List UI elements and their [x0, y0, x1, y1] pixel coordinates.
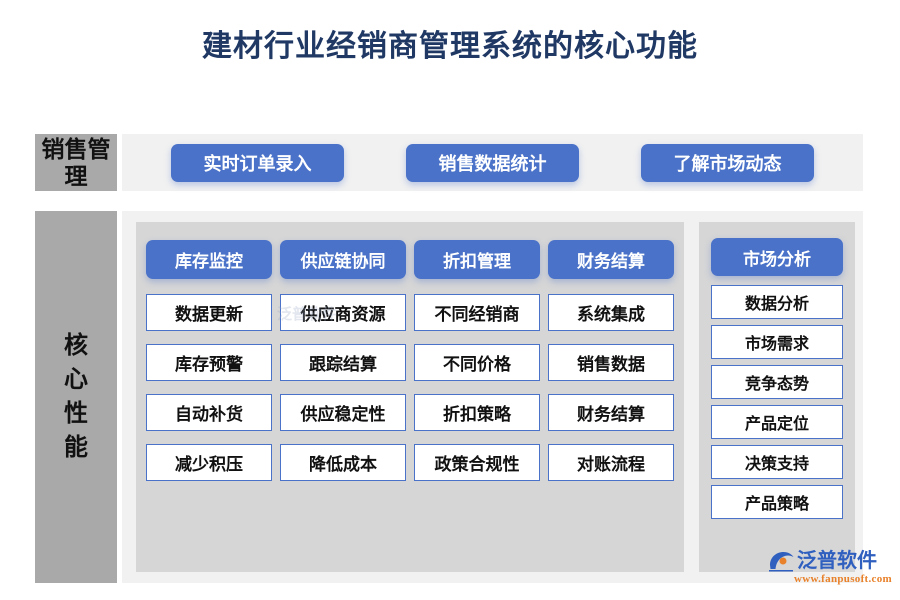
core-grid-cell-3-3[interactable]: 对账流程	[548, 444, 674, 481]
sidebar-item-sales-management[interactable]: 销售管理	[35, 134, 117, 191]
core-grid-cell-label: 系统集成	[577, 300, 645, 325]
core-grid-cell-0-1[interactable]: 供应商资源	[280, 294, 406, 331]
core-grid-cell-1-1[interactable]: 跟踪结算	[280, 344, 406, 381]
market-analysis-item-label: 产品定位	[745, 410, 809, 434]
core-grid-cell-1-3[interactable]: 销售数据	[548, 344, 674, 381]
core-grid-cell-label: 减少积压	[175, 450, 243, 475]
core-grid-cell-3-2[interactable]: 政策合规性	[414, 444, 540, 481]
core-grid-row: 库存预警跟踪结算不同价格销售数据	[146, 344, 674, 381]
core-grid-header-label: 折扣管理	[443, 247, 511, 272]
core-grid-cell-label: 降低成本	[309, 450, 377, 475]
core-grid-cell-0-2[interactable]: 不同经销商	[414, 294, 540, 331]
core-grid-cell-label: 跟踪结算	[309, 350, 377, 375]
core-grid-header-label: 供应链协同	[301, 247, 386, 272]
core-grid-header-row: 库存监控供应链协同折扣管理财务结算	[146, 240, 674, 279]
market-analysis-item-label: 数据分析	[745, 290, 809, 314]
core-grid-cell-label: 折扣策略	[443, 400, 511, 425]
sales-button-2[interactable]: 了解市场动态	[641, 144, 814, 182]
core-grid-header-label: 库存监控	[175, 247, 243, 272]
sidebar-core-char-3: 能	[64, 431, 88, 465]
core-grid-row: 自动补货供应稳定性折扣策略财务结算	[146, 394, 674, 431]
core-grid-cell-2-3[interactable]: 财务结算	[548, 394, 674, 431]
core-grid-cell-label: 库存预警	[175, 350, 243, 375]
core-grid-cell-label: 政策合规性	[435, 450, 520, 475]
core-grid-header-1[interactable]: 供应链协同	[280, 240, 406, 279]
core-grid-cell-1-0[interactable]: 库存预警	[146, 344, 272, 381]
core-feature-grid: 库存监控供应链协同折扣管理财务结算数据更新供应商资源不同经销商系统集成库存预警跟…	[136, 222, 684, 572]
core-grid-cell-1-2[interactable]: 不同价格	[414, 344, 540, 381]
market-analysis-column: 市场分析数据分析市场需求竞争态势产品定位决策支持产品策略	[699, 222, 855, 572]
core-grid-row: 减少积压降低成本政策合规性对账流程	[146, 444, 674, 481]
core-grid-header-2[interactable]: 折扣管理	[414, 240, 540, 279]
core-grid-cell-0-3[interactable]: 系统集成	[548, 294, 674, 331]
sidebar-sales-label: 销售管理	[35, 136, 117, 190]
core-grid-cell-label: 销售数据	[577, 350, 645, 375]
sidebar-item-core-performance[interactable]: 核心性能	[35, 211, 117, 583]
market-analysis-item-1[interactable]: 市场需求	[711, 325, 843, 359]
core-grid-cell-2-1[interactable]: 供应稳定性	[280, 394, 406, 431]
sidebar-core-char-2: 性	[64, 397, 88, 431]
core-grid-cell-label: 不同价格	[443, 350, 511, 375]
core-grid-header-3[interactable]: 财务结算	[548, 240, 674, 279]
infographic-canvas: 建材行业经销商管理系统的核心功能 销售管理 核心性能 实时订单录入销售数据统计了…	[0, 0, 900, 600]
market-analysis-item-4[interactable]: 决策支持	[711, 445, 843, 479]
core-grid-header-label: 财务结算	[577, 247, 645, 272]
core-grid-cell-label: 供应商资源	[301, 300, 386, 325]
core-grid-cell-2-2[interactable]: 折扣策略	[414, 394, 540, 431]
sales-button-1[interactable]: 销售数据统计	[406, 144, 579, 182]
market-analysis-header-label: 市场分析	[743, 245, 811, 270]
market-analysis-item-label: 竞争态势	[745, 370, 809, 394]
core-grid-header-0[interactable]: 库存监控	[146, 240, 272, 279]
core-grid-cell-label: 供应稳定性	[301, 400, 386, 425]
market-analysis-item-label: 决策支持	[745, 450, 809, 474]
market-analysis-item-label: 市场需求	[745, 330, 809, 354]
sales-button-row: 实时订单录入销售数据统计了解市场动态	[122, 134, 863, 191]
sidebar-core-char-0: 核	[64, 329, 88, 363]
market-analysis-item-5[interactable]: 产品策略	[711, 485, 843, 519]
sidebar-core-label: 核心性能	[64, 329, 88, 465]
sales-button-label: 实时订单录入	[204, 150, 312, 176]
market-analysis-item-2[interactable]: 竞争态势	[711, 365, 843, 399]
core-grid-cell-label: 对账流程	[577, 450, 645, 475]
sidebar-core-char-1: 心	[64, 363, 88, 397]
core-grid-cell-label: 财务结算	[577, 400, 645, 425]
sales-button-0[interactable]: 实时订单录入	[171, 144, 344, 182]
market-analysis-item-3[interactable]: 产品定位	[711, 405, 843, 439]
core-grid-cell-3-0[interactable]: 减少积压	[146, 444, 272, 481]
core-grid-cell-label: 数据更新	[175, 300, 243, 325]
market-analysis-header[interactable]: 市场分析	[711, 238, 843, 276]
core-grid-cell-3-1[interactable]: 降低成本	[280, 444, 406, 481]
market-analysis-item-label: 产品策略	[745, 490, 809, 514]
page-title: 建材行业经销商管理系统的核心功能	[0, 26, 900, 68]
sales-button-label: 销售数据统计	[439, 150, 547, 176]
market-analysis-item-0[interactable]: 数据分析	[711, 285, 843, 319]
core-grid-cell-2-0[interactable]: 自动补货	[146, 394, 272, 431]
core-grid-cell-label: 不同经销商	[435, 300, 520, 325]
core-grid-cell-label: 自动补货	[175, 400, 243, 425]
core-grid-row: 数据更新供应商资源不同经销商系统集成	[146, 294, 674, 331]
sales-button-label: 了解市场动态	[674, 150, 782, 176]
core-grid-cell-0-0[interactable]: 数据更新	[146, 294, 272, 331]
